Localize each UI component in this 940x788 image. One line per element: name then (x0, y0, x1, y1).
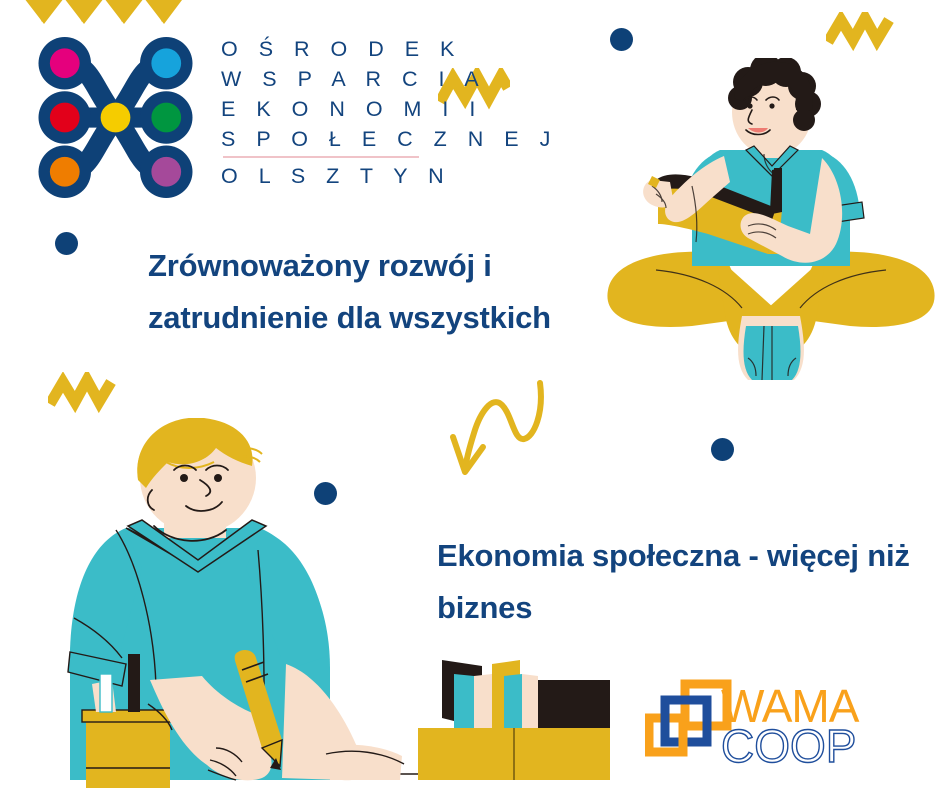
coop-word: COOP (721, 720, 856, 770)
zigzag-mid-left-icon (48, 372, 120, 414)
node-top-right (151, 48, 181, 78)
zigzag-top-right-icon (826, 12, 898, 54)
owes-wordmark: O Ś R O D E K W S P A R C I A E K O N O … (221, 30, 558, 191)
node-bottom-left (50, 157, 80, 187)
wama-coop-logo: WAMA COOP (645, 678, 885, 770)
node-middle-left (50, 103, 80, 133)
dot-upper-center-icon (610, 28, 633, 51)
man-writing-at-desk-illustration (30, 418, 610, 788)
wama-coop-logo-svg: WAMA COOP (645, 678, 885, 770)
owes-line-4: S P O Ł E C Z N E J (221, 124, 558, 154)
owes-line-5: O L S Z T Y N (221, 161, 558, 191)
dot-left-icon (55, 232, 78, 255)
node-center (101, 103, 131, 133)
owes-logo: O Ś R O D E K W S P A R C I A E K O N O … (28, 30, 448, 215)
owes-network-mark-icon (28, 30, 203, 205)
node-bottom-right (151, 157, 181, 187)
owes-divider (223, 156, 419, 158)
man-reading-book-illustration (596, 58, 940, 388)
owes-line-3: E K O N O M I I (221, 94, 558, 124)
headline-primary: Zrównoważony rozwój i zatrudnienie dla w… (148, 240, 618, 344)
node-middle-right (151, 103, 181, 133)
dot-right-icon (711, 438, 734, 461)
wama-coop-interlocking-squares-icon (649, 684, 727, 752)
owes-line-2: W S P A R C I A (221, 64, 558, 94)
owes-line-1: O Ś R O D E K (221, 34, 558, 64)
poster-canvas: O Ś R O D E K W S P A R C I A E K O N O … (0, 0, 940, 788)
node-top-left (50, 48, 80, 78)
